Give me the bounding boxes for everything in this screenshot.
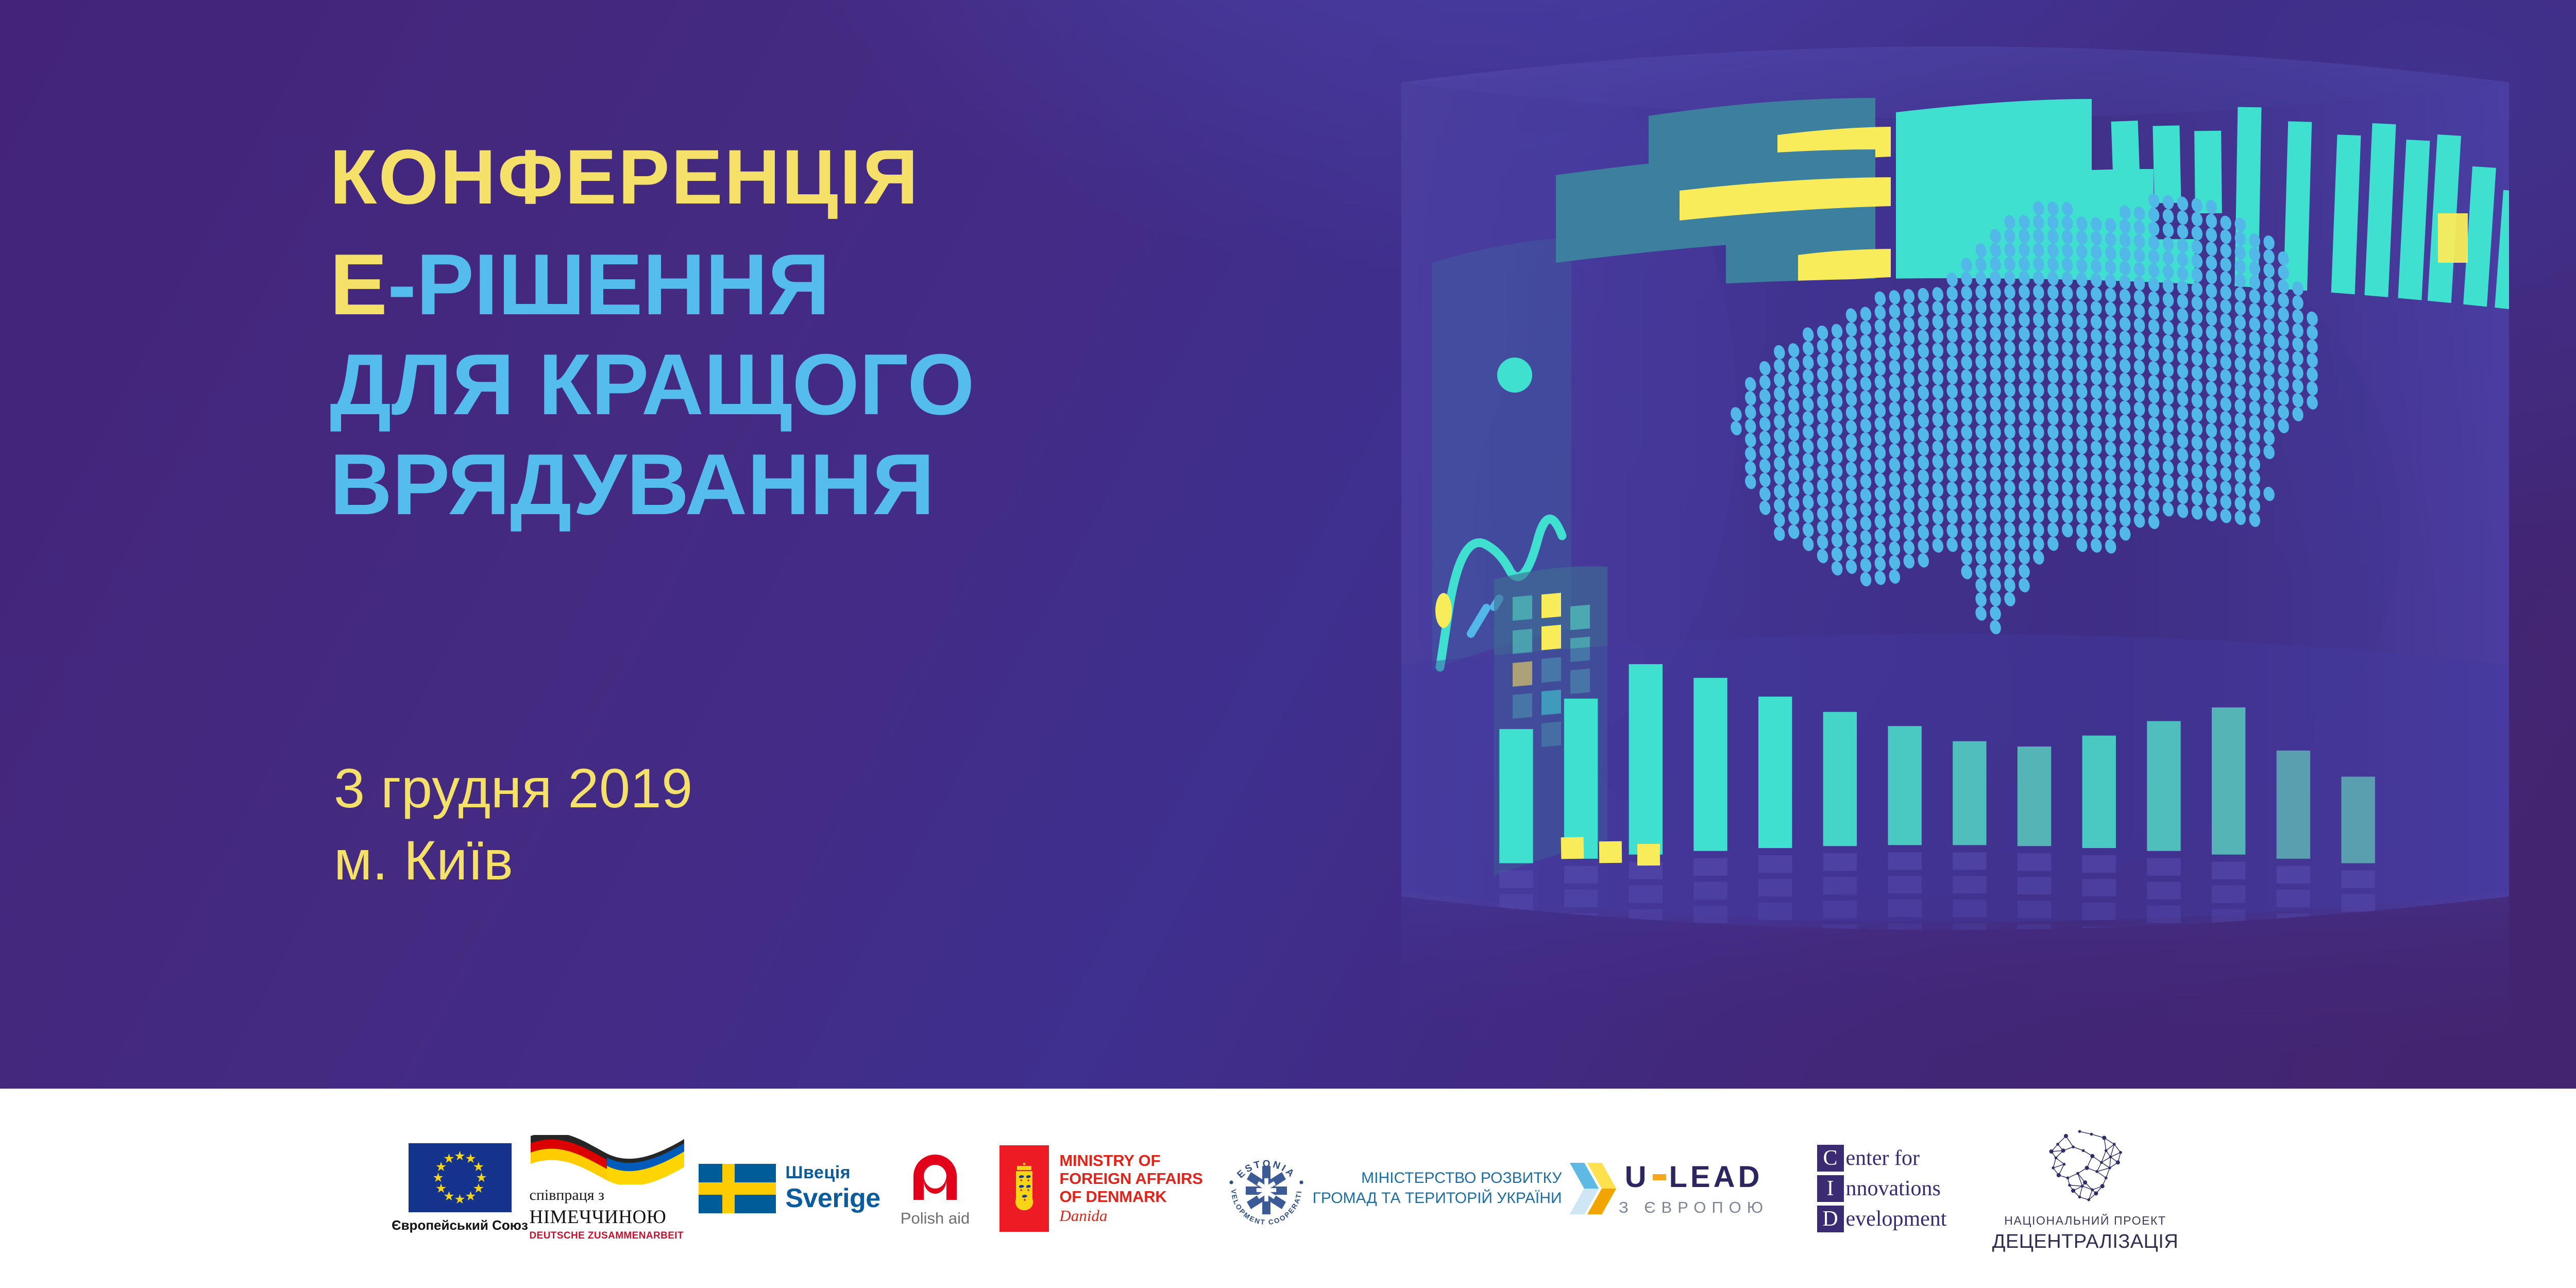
bar xyxy=(1953,741,1986,845)
bar-cell xyxy=(2212,886,2245,903)
network-node xyxy=(2115,1160,2120,1164)
bar-cell xyxy=(1888,852,1922,870)
logo-ministry-line1: МІНІСТЕРСТВО РОЗВИТКУ xyxy=(1361,1168,1562,1188)
bar-cell xyxy=(1823,853,1857,871)
logo-u-lead-dash-icon xyxy=(1653,1174,1666,1180)
event-details: 3 грудня 2019 м. Київ xyxy=(334,752,693,897)
logo-german-cooperation: співпраця з НІМЕЧЧИНОЮ DEUTSCHE ZUSAMMEN… xyxy=(530,1124,700,1253)
network-node xyxy=(2076,1172,2079,1175)
bar xyxy=(1693,678,1727,851)
bar-cell xyxy=(1953,852,1986,870)
network-node xyxy=(2108,1166,2111,1170)
network-node xyxy=(2100,1184,2104,1188)
cid-word-center: enter for xyxy=(1846,1146,1920,1171)
event-city: м. Київ xyxy=(334,824,693,896)
network-node xyxy=(2080,1184,2083,1188)
partner-logo-bar: ★★★★★★★★★★★★ Європейський Союз співпраця… xyxy=(0,1089,2576,1288)
network-node xyxy=(2056,1143,2059,1146)
network-node xyxy=(2109,1155,2112,1158)
headline-block: КОНФЕРЕНЦІЯ Е-РІШЕННЯ ДЛЯ КРАЩОГО ВРЯДУВ… xyxy=(330,138,1309,541)
bar-cell xyxy=(1758,879,1792,896)
bar-cell xyxy=(1564,890,1598,907)
headline-e-suffix: -РІШЕННЯ xyxy=(387,236,830,333)
cid-word-innovations: nnovations xyxy=(1846,1176,1941,1201)
logo-u-lead-wordmark: U LEAD xyxy=(1625,1160,1763,1194)
eu-flag-icon: ★★★★★★★★★★★★ xyxy=(409,1143,512,1212)
bar-cell xyxy=(1693,906,1727,923)
bar-cell xyxy=(1758,903,1792,920)
network-node xyxy=(2081,1149,2084,1152)
network-node xyxy=(2102,1136,2106,1140)
logo-center-for-innovations-development: C enter for I nnovations D evelopment xyxy=(1779,1124,1985,1253)
network-node xyxy=(2066,1176,2069,1179)
network-node xyxy=(2091,1188,2094,1191)
bar-cell xyxy=(2018,877,2051,894)
cid-word-development: evelopment xyxy=(1846,1207,1947,1231)
logo-u-lead-lead: LEAD xyxy=(1669,1160,1763,1194)
bar xyxy=(1564,699,1598,859)
logo-estonia-development-cooperation: ESTONIA DEVELOPMENT COOPERATION xyxy=(1212,1124,1320,1253)
line-chart-point xyxy=(1497,358,1532,393)
network-node xyxy=(2104,1149,2107,1152)
logo-ministry-line2: ГРОМАД ТА ТЕРИТОРІЙ УКРАЇНИ xyxy=(1313,1189,1562,1208)
cid-initial-d: D xyxy=(1817,1206,1844,1232)
hero-section: КОНФЕРЕНЦІЯ Е-РІШЕННЯ ДЛЯ КРАЩОГО ВРЯДУВ… xyxy=(0,0,2576,1089)
logo-sweden-line2: Sverige xyxy=(785,1183,880,1214)
network-node xyxy=(2072,1145,2075,1148)
bar-cell xyxy=(2342,894,2375,912)
eu-star-icon: ★ xyxy=(443,1153,455,1165)
bar xyxy=(2082,736,2116,848)
logo-sweden: Швеція Sverige xyxy=(700,1124,880,1253)
logo-polish-aid: Polish aid xyxy=(880,1124,991,1253)
network-node xyxy=(2100,1161,2103,1164)
polish-aid-mark-icon xyxy=(906,1149,964,1203)
denmark-coat-of-arms-icon xyxy=(999,1145,1049,1232)
network-node xyxy=(2090,1132,2093,1136)
logo-decentralization-line2: ДЕЦЕНТРАЛІЗАЦІЯ xyxy=(1992,1231,2179,1253)
bar-cell xyxy=(2018,853,2051,871)
logo-denmark-line2: FOREIGN AFFAIRS xyxy=(1059,1170,1202,1188)
network-edge xyxy=(2079,1131,2091,1134)
bar-cell xyxy=(1693,882,1727,900)
bar-cell xyxy=(1758,855,1792,873)
network-edge xyxy=(2079,1186,2082,1197)
network-edge xyxy=(2077,1173,2082,1186)
bar-cell xyxy=(2277,890,2310,907)
german-ukrainian-flag-wave-icon xyxy=(530,1135,689,1184)
bar-cell xyxy=(2082,855,2116,873)
cid-row: I nnovations xyxy=(1817,1175,1947,1202)
bar-cell xyxy=(2147,906,2180,923)
line-chart-highlight xyxy=(1435,593,1452,628)
network-node xyxy=(2094,1191,2098,1195)
bar-cell xyxy=(1953,900,1986,917)
network-edge xyxy=(2097,1171,2106,1177)
network-node xyxy=(2112,1143,2115,1146)
logo-european-union-caption: Європейський Союз xyxy=(392,1217,528,1233)
bar xyxy=(1629,664,1663,855)
network-node xyxy=(2056,1173,2060,1177)
logo-denmark-line1: MINISTRY OF xyxy=(1059,1151,1202,1170)
logo-german-cooperation-line1: співпраця з xyxy=(530,1187,604,1204)
bar-cell xyxy=(1693,858,1727,876)
logo-german-cooperation-line3: DEUTSCHE ZUSAMMENARBEIT xyxy=(530,1230,684,1242)
bar xyxy=(1888,726,1922,845)
network-node xyxy=(2062,1162,2065,1165)
estonia-star-emblem-icon: ESTONIA DEVELOPMENT COOPERATION xyxy=(1220,1142,1313,1235)
network-node xyxy=(2063,1133,2067,1138)
cid-initial-i: I xyxy=(1817,1175,1844,1202)
bar-cell xyxy=(1823,877,1857,894)
network-node xyxy=(2087,1198,2090,1201)
network-edge xyxy=(2073,1147,2083,1150)
right-upper-accents xyxy=(2438,213,2468,263)
bar-cell xyxy=(1953,876,1986,893)
cid-initial-c: C xyxy=(1817,1145,1844,1172)
network-node xyxy=(2052,1166,2055,1170)
logo-sweden-line1: Швеція xyxy=(785,1163,880,1183)
headline-line-governance: ВРЯДУВАННЯ xyxy=(330,441,1309,528)
logo-polish-aid-caption: Polish aid xyxy=(901,1209,970,1228)
logo-u-lead-with-europe: U LEAD З ЄВРОПОЮ xyxy=(1609,1124,1779,1253)
bar-cell xyxy=(1499,871,1533,888)
cid-row: C enter for xyxy=(1817,1145,1947,1172)
network-node xyxy=(2095,1170,2098,1173)
logo-denmark-line4: Danida xyxy=(1059,1207,1202,1225)
network-edge xyxy=(2101,1162,2109,1168)
bar-cell xyxy=(2147,882,2180,900)
network-edge xyxy=(2056,1158,2064,1164)
network-edge xyxy=(2110,1152,2120,1157)
bar-cell xyxy=(1823,901,1857,918)
logo-denmark-line3: OF DENMARK xyxy=(1059,1188,1202,1206)
bar-cell xyxy=(2342,871,2375,888)
logo-denmark-mfa: MINISTRY OF FOREIGN AFFAIRS OF DENMARK D… xyxy=(991,1124,1212,1253)
bar xyxy=(2277,751,2310,859)
bar-cell xyxy=(2082,903,2116,920)
headline-e-prefix: Е xyxy=(330,236,387,333)
logo-german-cooperation-line2: НІМЕЧЧИНОЮ xyxy=(530,1206,667,1228)
network-edge xyxy=(2053,1158,2056,1167)
network-edge xyxy=(2114,1144,2120,1152)
bar-cell xyxy=(1888,876,1922,893)
network-node xyxy=(2119,1150,2122,1154)
bar xyxy=(2147,721,2180,851)
bar-cell xyxy=(2212,862,2245,879)
network-node xyxy=(2084,1165,2089,1170)
event-date: 3 грудня 2019 xyxy=(334,752,693,824)
sweden-flag-icon xyxy=(699,1164,776,1213)
bar xyxy=(1823,712,1857,846)
logo-european-union: ★★★★★★★★★★★★ Європейський Союз xyxy=(391,1124,530,1253)
network-node xyxy=(2090,1154,2094,1158)
network-node xyxy=(2078,1195,2081,1198)
conference-banner: КОНФЕРЕНЦІЯ Е-РІШЕННЯ ДЛЯ КРАЩОГО ВРЯДУВ… xyxy=(0,0,2576,1288)
bar-cell xyxy=(2082,879,2116,896)
headline-line-e-solutions: Е-РІШЕННЯ xyxy=(330,241,1309,328)
network-edge xyxy=(2067,1173,2077,1178)
bar xyxy=(1499,729,1533,863)
network-node xyxy=(2104,1176,2107,1179)
network-node xyxy=(2049,1149,2053,1153)
network-edge xyxy=(2109,1157,2110,1167)
headline-line-for-better: ДЛЯ КРАЩОГО xyxy=(330,341,1309,428)
logo-u-lead-u: U xyxy=(1625,1160,1650,1194)
illustration-cylindrical-dashboard xyxy=(1329,21,2576,1077)
headline-line-conference: КОНФЕРЕНЦІЯ xyxy=(330,138,1309,215)
network-edge xyxy=(2110,1144,2114,1157)
network-node xyxy=(2068,1183,2071,1187)
ukraine-network-map-icon xyxy=(2031,1124,2140,1211)
bar xyxy=(1758,697,1792,848)
logo-u-lead-tagline: З ЄВРОПОЮ xyxy=(1619,1198,1769,1217)
logo-decentralization-line1: НАЦІОНАЛЬНИЙ ПРОЕКТ xyxy=(2004,1214,2166,1228)
bar xyxy=(2342,777,2375,863)
network-node xyxy=(2061,1148,2065,1153)
bar-cell xyxy=(2277,866,2310,884)
logo-ministry-of-development: МІНІСТЕРСТВО РОЗВИТКУ ГРОМАД ТА ТЕРИТОРІ… xyxy=(1320,1124,1609,1253)
logo-decentralization: НАЦІОНАЛЬНИЙ ПРОЕКТ ДЕЦЕНТРАЛІЗАЦІЯ xyxy=(1985,1124,2186,1253)
network-edge xyxy=(2106,1167,2109,1177)
bar xyxy=(2018,747,2051,846)
bar-cell xyxy=(1629,886,1663,903)
network-node xyxy=(2078,1130,2081,1133)
network-node xyxy=(2054,1156,2057,1159)
bar-cell xyxy=(1564,866,1598,884)
network-node xyxy=(2071,1189,2075,1193)
network-edge xyxy=(2070,1185,2082,1186)
cid-row: D evelopment xyxy=(1817,1206,1947,1232)
bar-cell xyxy=(2018,901,2051,918)
bar-cell xyxy=(2147,858,2180,876)
bar-cell xyxy=(1888,900,1922,917)
bar xyxy=(2212,707,2245,855)
network-node xyxy=(2083,1180,2087,1184)
